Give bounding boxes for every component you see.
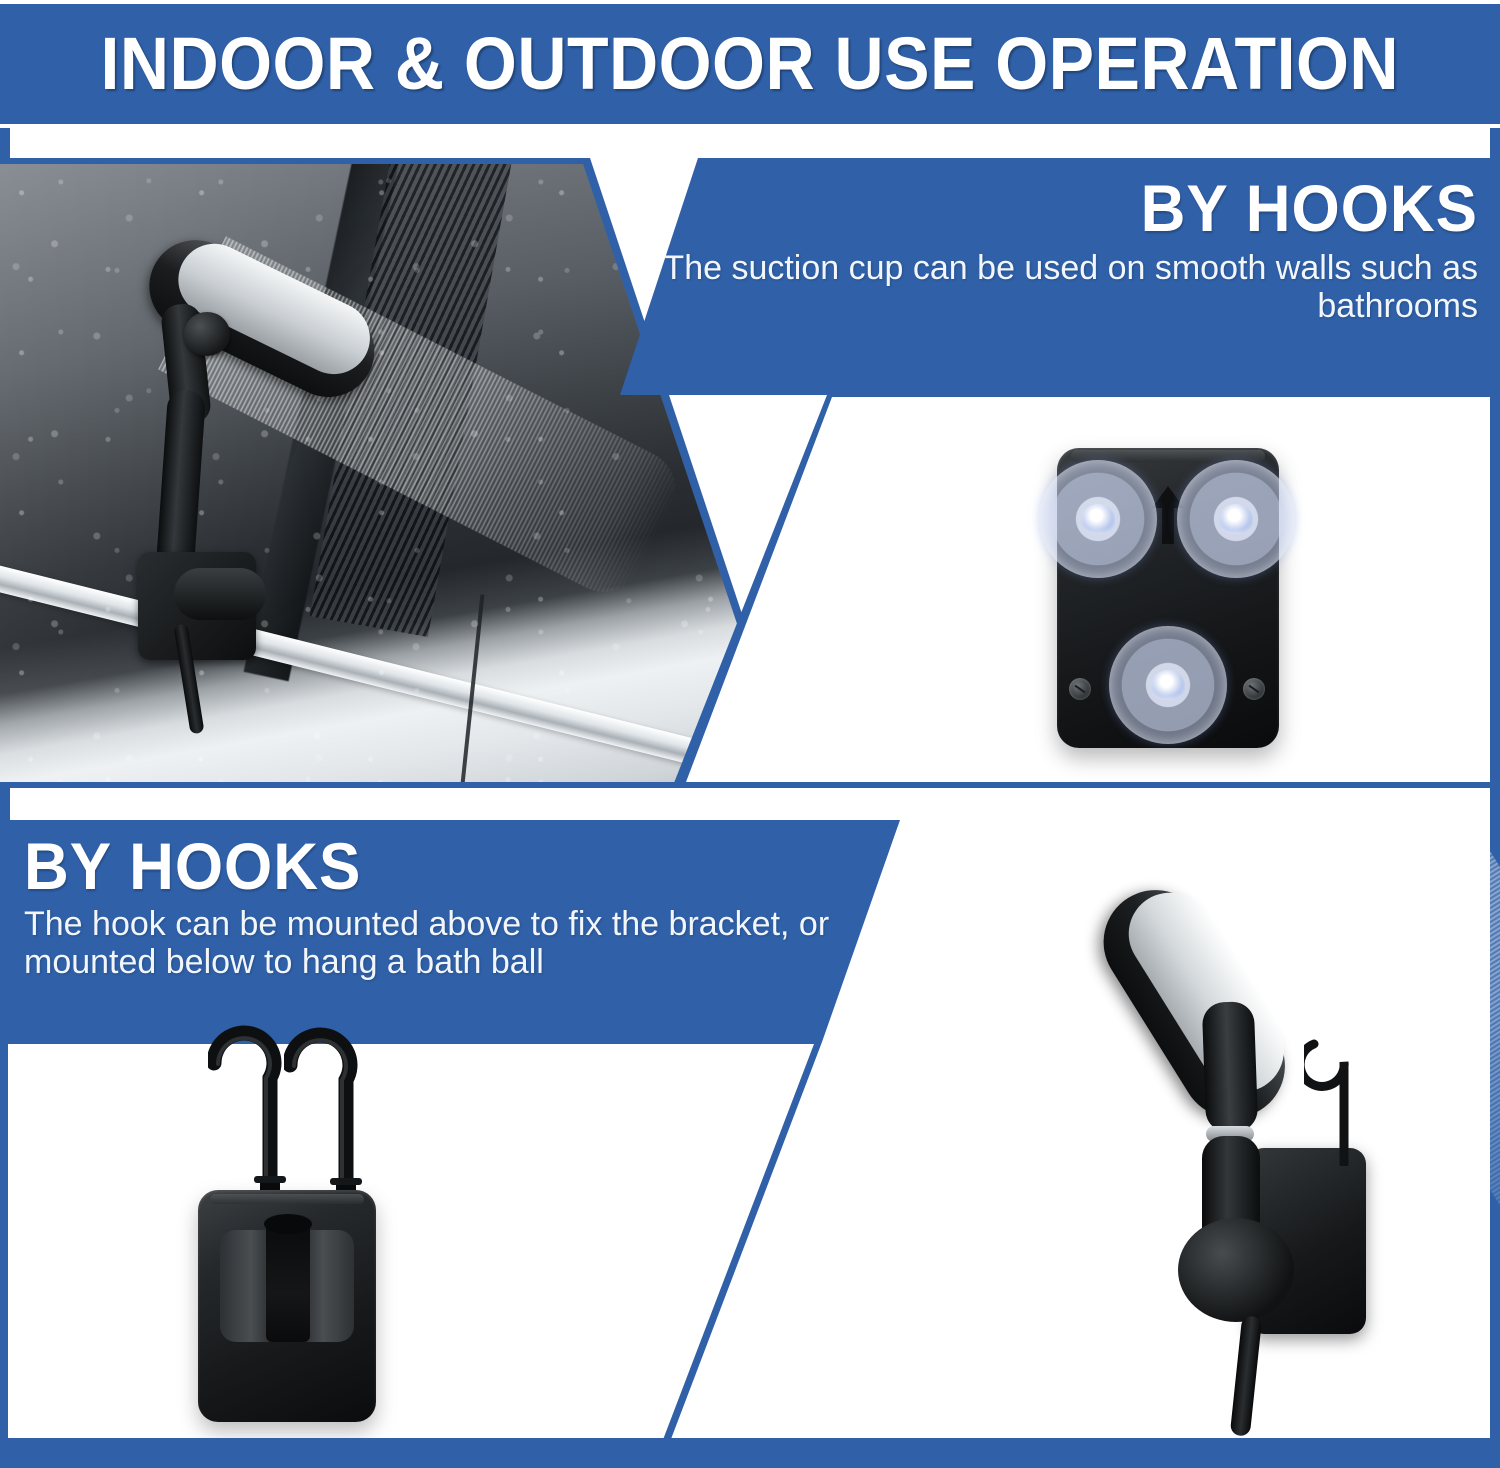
- screw-icon: [1243, 678, 1265, 700]
- hook-icon: [1304, 1026, 1374, 1166]
- frame-bottom-border: [0, 1438, 1500, 1468]
- hook-icon: [284, 1020, 368, 1200]
- section-title-suction-cup: BY HOOKS: [671, 176, 1478, 241]
- shower-mode-knob: [184, 312, 230, 356]
- shower-handle: [156, 389, 206, 571]
- suction-cup-icon: [1039, 460, 1157, 578]
- caption-block-suction-cup: BY HOOKS The suction cup can be used on …: [620, 158, 1500, 395]
- hook-icon: [208, 1018, 292, 1198]
- product-suction-cup-bracket: [1033, 438, 1301, 763]
- bracket-clamp: [1178, 1218, 1294, 1322]
- shower-head-neck: [1202, 1001, 1259, 1133]
- shower-head-assembly-tree: [1010, 830, 1440, 1430]
- suction-cup-icon: [1177, 460, 1295, 578]
- section-title-hooks: BY HOOKS: [24, 834, 847, 899]
- page-title: INDOOR & OUTDOOR USE OPERATION: [101, 27, 1400, 101]
- bracket-clamp: [174, 568, 266, 620]
- product-hooks-and-bracket: [192, 1018, 492, 1438]
- header-banner: INDOOR & OUTDOOR USE OPERATION: [0, 4, 1500, 124]
- section-subtitle-hooks: The hook can be mounted above to fix the…: [24, 905, 900, 981]
- shower-head-assembly-car: [130, 184, 460, 704]
- screw-icon: [1069, 678, 1091, 700]
- infographic-poster: INDOOR & OUTDOOR USE OPERATION: [0, 0, 1500, 1468]
- hook-bracket-socket: [266, 1222, 310, 1342]
- shower-hose: [1230, 1315, 1262, 1436]
- suction-cup-icon: [1109, 626, 1227, 744]
- section-subtitle-suction-cup: The suction cup can be used on smooth wa…: [620, 249, 1478, 325]
- hook-bracket-top-lip: [210, 1194, 364, 1204]
- caption-block-hooks: BY HOOKS The hook can be mounted above t…: [0, 820, 900, 1042]
